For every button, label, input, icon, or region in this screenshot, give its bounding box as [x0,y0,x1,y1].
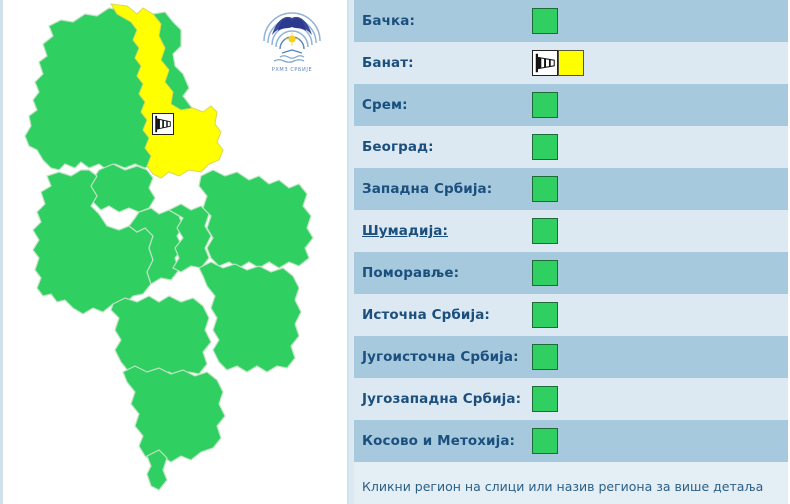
region-label-jugozapadna-srbija[interactable]: Југозападна Србија: [362,391,532,407]
region-status-icons [532,260,788,286]
region-status-icons [532,386,788,412]
list-item[interactable]: Источна Србија: [354,294,788,336]
map-region-kosovo-metohija[interactable] [123,366,225,462]
list-item[interactable]: Југозападна Србија: [354,378,788,420]
status-badge-green[interactable] [532,344,558,370]
status-badge-green[interactable] [532,134,558,160]
footer-hint-text: Кликни регион на слици или назив региона… [362,479,763,494]
status-badge-green[interactable] [532,176,558,202]
wind-warning-icon[interactable] [532,50,558,76]
logo-caption: РХМЗ СРБИЈЕ [272,67,312,73]
list-item[interactable]: Банат: [354,42,788,84]
region-label-pomoravlje[interactable]: Поморавље: [362,265,532,281]
region-status-icons [532,50,788,76]
map-region-jugoistocna-srbija[interactable] [199,262,301,372]
region-status-icons [532,218,788,244]
region-status-icons [532,428,788,454]
region-label-zapadna-srbija[interactable]: Западна Србија: [362,181,532,197]
region-status-icons [532,302,788,328]
list-item[interactable]: Београд: [354,126,788,168]
region-label-backa[interactable]: Бачка: [362,13,532,29]
region-status-icons [532,134,788,160]
status-badge-green[interactable] [532,302,558,328]
list-item[interactable]: Бачка: [354,0,788,42]
region-label-kosovo-metohija[interactable]: Косово и Метохија: [362,433,532,449]
list-item[interactable]: Поморавље: [354,252,788,294]
status-badge-green[interactable] [532,386,558,412]
windsock-glyph [533,51,557,75]
region-label-sumadija[interactable]: Шумадија: [362,223,532,239]
map-panel: РХМЗ СРБИЈЕ [0,0,349,504]
status-badge-green[interactable] [532,260,558,286]
region-label-istocna-srbija[interactable]: Источна Србија: [362,307,532,323]
status-badge-green[interactable] [532,8,558,34]
footer-hint-row: Кликни регион на слици или назив региона… [354,462,788,504]
region-status-icons [532,92,788,118]
list-item[interactable]: Југоисточна Србија: [354,336,788,378]
serbia-region-map[interactable] [3,0,347,504]
map-region-beograd[interactable] [87,164,155,212]
map-region-istocna-srbija[interactable] [199,170,313,268]
region-label-beograd[interactable]: Београд: [362,139,532,155]
status-badge-green[interactable] [532,92,558,118]
wind-warning-icon[interactable] [152,113,174,135]
region-status-icons [532,176,788,202]
list-item[interactable]: Шумадија: [354,210,788,252]
status-badge-yellow[interactable] [558,50,584,76]
status-badge-green[interactable] [532,428,558,454]
rhmz-logo: РХМЗ СРБИЈЕ [258,5,326,75]
region-label-banat[interactable]: Банат: [362,55,532,71]
map-region-jugozapadna-srbija[interactable] [111,296,211,378]
region-warning-list: Бачка: Банат: С [349,0,788,504]
region-label-srem[interactable]: Срем: [362,97,532,113]
list-item[interactable]: Косово и Метохија: [354,420,788,462]
map-region-south-tail[interactable] [147,450,167,490]
windsock-glyph [153,114,173,134]
meteoalarm-widget: РХМЗ СРБИЈЕ Бачка: Банат: [0,0,790,504]
region-status-icons [532,344,788,370]
list-item[interactable]: Западна Србија: [354,168,788,210]
list-item[interactable]: Срем: [354,84,788,126]
region-status-icons [532,8,788,34]
rhmz-logo-glyph: РХМЗ СРБИЈЕ [258,5,326,75]
status-badge-green[interactable] [532,218,558,244]
region-label-jugoistocna-srbija[interactable]: Југоисточна Србија: [362,349,532,365]
